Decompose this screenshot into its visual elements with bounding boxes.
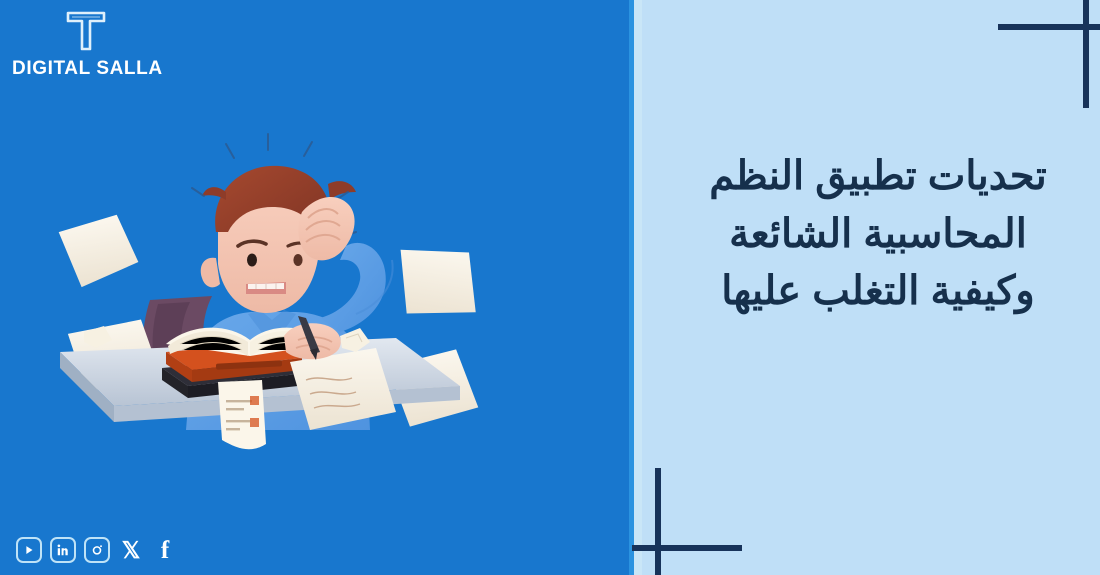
brand-wordmark: DIGITAL SALLA: [12, 58, 162, 80]
social-links-bar: 𝕏 f: [16, 534, 178, 566]
cross-top-right-horizontal: [998, 24, 1100, 30]
floating-paper-right-1: [391, 242, 485, 324]
brand-logo[interactable]: DIGITAL SALLA: [12, 8, 162, 82]
youtube-icon[interactable]: [16, 537, 42, 563]
page-title: تحديات تطبيق النظم المحاسبية الشائعة وكي…: [708, 148, 1048, 321]
stressed-student-illustration: [40, 100, 510, 470]
linkedin-icon[interactable]: [50, 537, 76, 563]
cross-bottom-left-horizontal: [632, 545, 742, 551]
right-panel-inner-edge: [634, 0, 642, 575]
receipt-paper: [218, 380, 266, 449]
poster-canvas: DIGITAL SALLA تحديات تطبيق النظم المحاسب…: [0, 0, 1100, 575]
cross-top-right-vertical: [1083, 0, 1089, 108]
x-twitter-icon[interactable]: 𝕏: [118, 537, 144, 563]
cross-bottom-left-vertical: [655, 468, 661, 575]
letter-t-outline-mark-icon: [64, 8, 108, 52]
instagram-icon[interactable]: [84, 537, 110, 563]
floating-paper-left-1: [57, 213, 140, 290]
facebook-icon[interactable]: f: [152, 537, 178, 563]
